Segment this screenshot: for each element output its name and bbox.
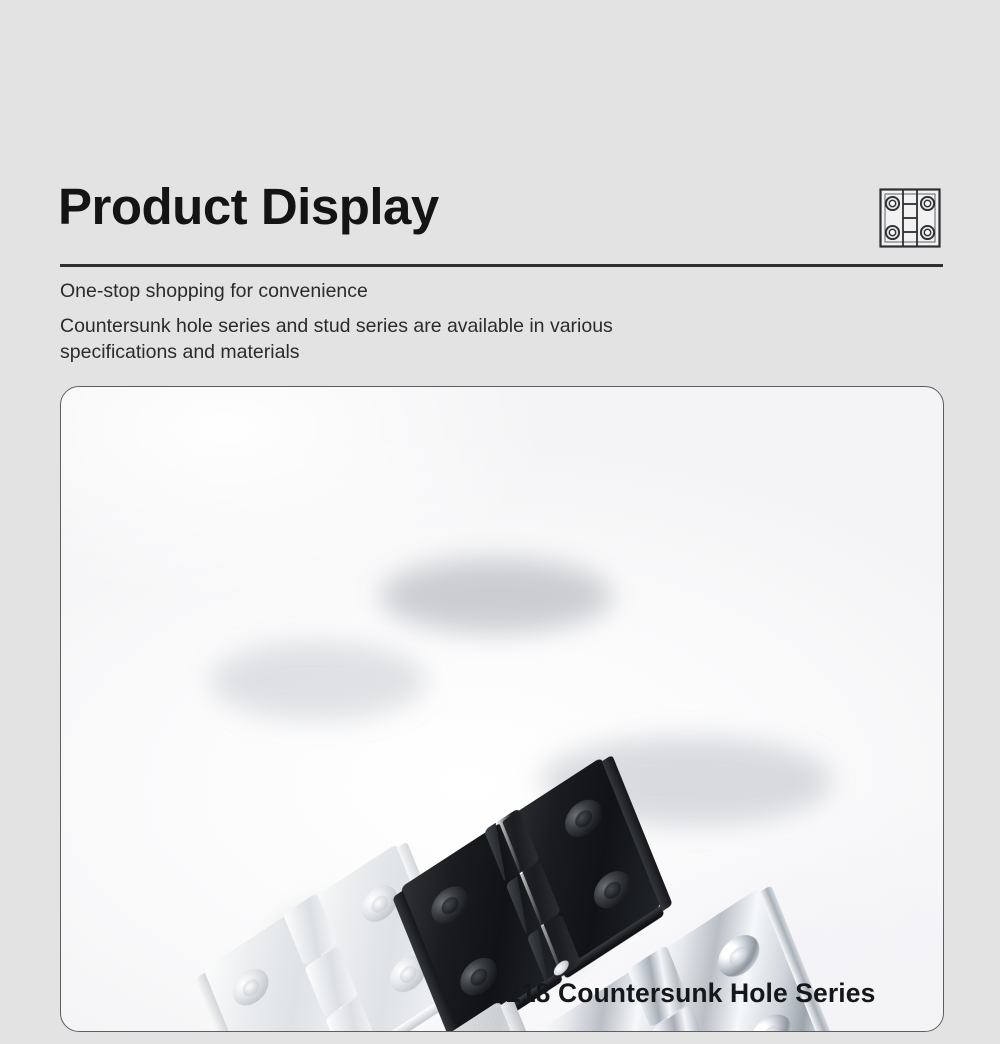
- subtitle-line-2: Countersunk hole series and stud series …: [60, 313, 613, 340]
- product-image-card: [60, 386, 944, 1032]
- hinge-schematic-icon: [878, 187, 942, 249]
- shadow-aluminium: [211, 642, 426, 720]
- product-series-caption: 218 Countersunk Hole Series: [506, 978, 875, 1009]
- title-divider: [60, 264, 943, 267]
- page-title: Product Display: [58, 180, 439, 234]
- subtitle-line-1: One-stop shopping for convenience: [60, 278, 368, 305]
- subtitle-line-3: specifications and materials: [60, 339, 300, 366]
- shadow-black: [381, 559, 611, 633]
